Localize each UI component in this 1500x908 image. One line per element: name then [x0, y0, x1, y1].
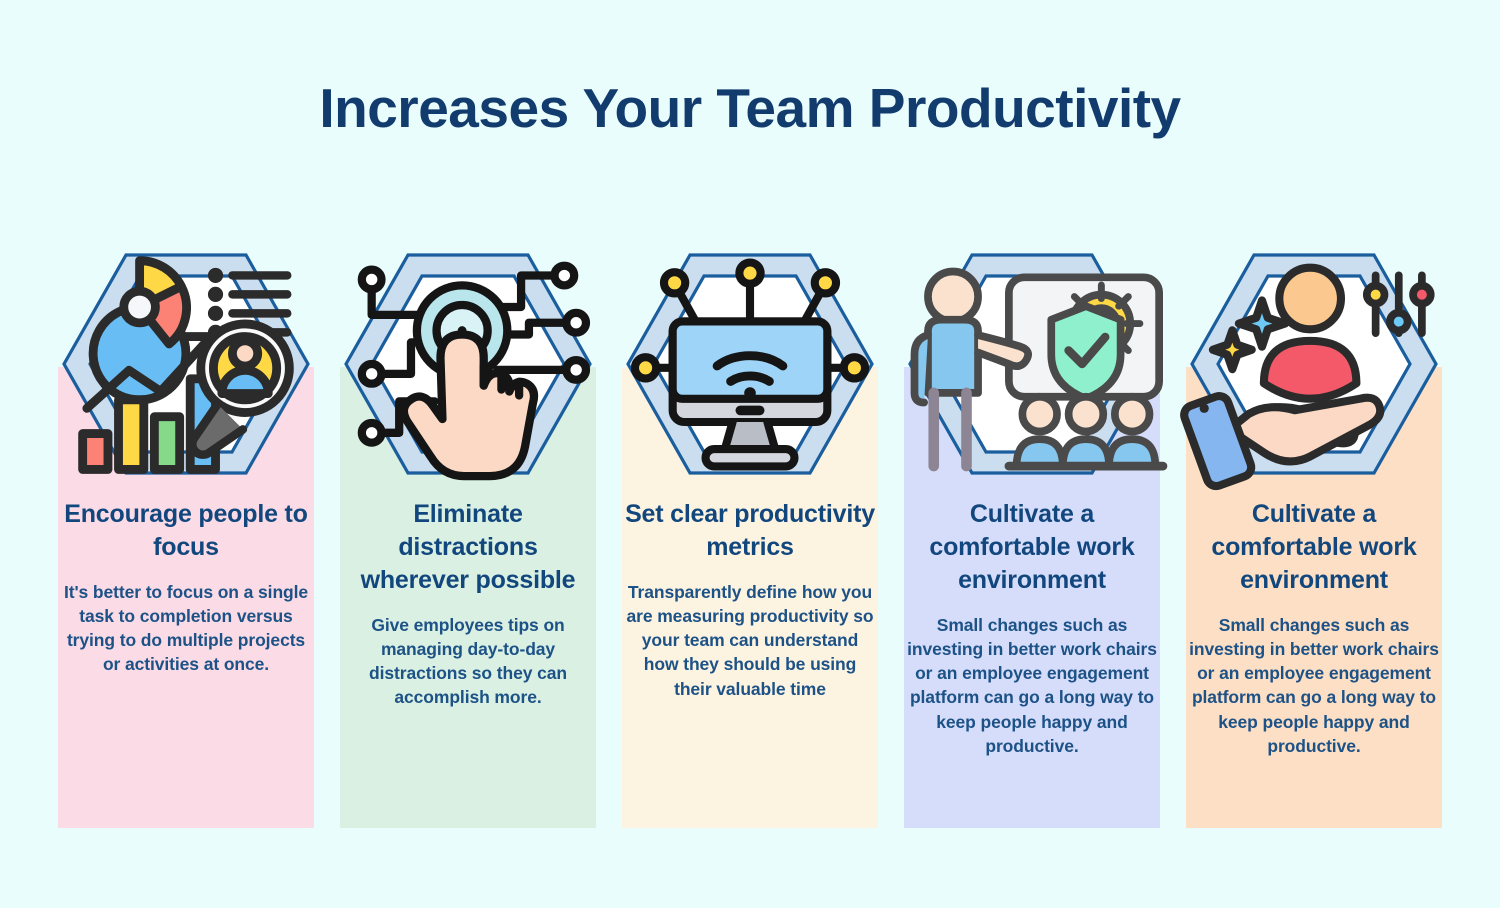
- presenter-training-board-icon: [901, 248, 1163, 480]
- feature-card: Cultivate a comfortable work environment…: [1183, 248, 1445, 828]
- card-body-text: Transparently define how you are measuri…: [625, 580, 875, 701]
- card-heading: Cultivate a comfortable work environment: [907, 498, 1157, 597]
- card-body-text: It's better to focus on a single task to…: [61, 580, 311, 677]
- card-body-text: Give employees tips on managing day-to-d…: [343, 613, 593, 710]
- feature-card: Cultivate a comfortable work environment…: [901, 248, 1163, 828]
- hexagon-frame: [901, 248, 1163, 480]
- card-heading: Encourage people to focus: [61, 498, 311, 564]
- card-heading: Eliminate distractions wherever possible: [343, 498, 593, 597]
- analytics-dashboard-icon: [55, 248, 317, 480]
- hexagon-frame: [337, 248, 599, 480]
- feature-card: Eliminate distractions wherever possible…: [337, 248, 599, 828]
- touch-hand-circuit-icon: [337, 248, 599, 480]
- feature-card: Encourage people to focusIt's better to …: [55, 248, 317, 828]
- card-text-block: Eliminate distractions wherever possible…: [337, 498, 599, 710]
- card-text-block: Encourage people to focusIt's better to …: [55, 498, 317, 677]
- monitor-wifi-network-icon: [619, 248, 881, 480]
- card-text-block: Cultivate a comfortable work environment…: [1183, 498, 1445, 758]
- page-title: Increases Your Team Productivity: [0, 78, 1500, 139]
- card-text-block: Set clear productivity metricsTransparen…: [619, 498, 881, 701]
- hexagon-frame: [619, 248, 881, 480]
- hexagon-frame: [1183, 248, 1445, 480]
- card-body-text: Small changes such as investing in bette…: [1189, 613, 1439, 758]
- card-body-text: Small changes such as investing in bette…: [907, 613, 1157, 758]
- hand-holding-person-icon: [1183, 248, 1445, 480]
- card-text-block: Cultivate a comfortable work environment…: [901, 498, 1163, 758]
- card-heading: Set clear productivity metrics: [625, 498, 875, 564]
- card-row: Encourage people to focusIt's better to …: [55, 248, 1445, 828]
- hexagon-frame: [55, 248, 317, 480]
- card-heading: Cultivate a comfortable work environment: [1189, 498, 1439, 597]
- feature-card: Set clear productivity metricsTransparen…: [619, 248, 881, 828]
